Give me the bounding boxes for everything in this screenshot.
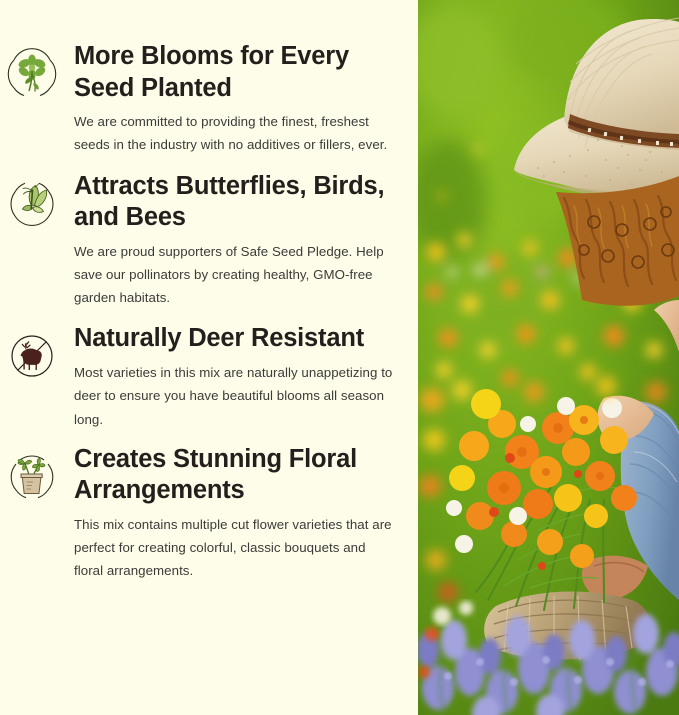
benefit-title: Creates Stunning Floral Arrangements: [74, 444, 396, 507]
potted-plant-in-circle-icon: [6, 451, 58, 503]
benefit-text-block: Creates Stunning Floral Arrangements Thi…: [58, 444, 396, 583]
benefit-title: More Blooms for Every Seed Planted: [74, 41, 396, 104]
benefit-item-more-blooms: More Blooms for Every Seed Planted We ar…: [4, 41, 396, 157]
benefit-text-block: Naturally Deer Resistant Most varieties …: [58, 323, 396, 430]
flower-in-circle-icon: [6, 48, 58, 100]
benefits-panel: More Blooms for Every Seed Planted We ar…: [0, 0, 418, 715]
benefit-item-attracts-pollinators: Attracts Butterflies, Birds, and Bees We…: [4, 171, 396, 310]
benefit-title: Naturally Deer Resistant: [74, 323, 396, 355]
woman-in-straw-hat-holding-poppy-bouquet-photo: [418, 0, 679, 715]
benefit-text-block: Attracts Butterflies, Birds, and Bees We…: [58, 171, 396, 310]
deer-crossed-out-icon: [6, 330, 58, 382]
benefit-description: We are proud supporters of Safe Seed Ple…: [74, 240, 396, 310]
benefit-item-floral-arrangements: Creates Stunning Floral Arrangements Thi…: [4, 444, 396, 583]
benefit-title: Attracts Butterflies, Birds, and Bees: [74, 171, 396, 234]
benefit-description: This mix contains multiple cut flower va…: [74, 513, 396, 583]
benefit-item-deer-resistant: Naturally Deer Resistant Most varieties …: [4, 323, 396, 430]
benefit-text-block: More Blooms for Every Seed Planted We ar…: [58, 41, 396, 157]
benefit-description: We are committed to providing the finest…: [74, 110, 396, 157]
butterfly-in-circle-icon: [6, 178, 58, 230]
benefit-description: Most varieties in this mix are naturally…: [74, 361, 396, 431]
product-benefits-graphic: More Blooms for Every Seed Planted We ar…: [0, 0, 679, 715]
